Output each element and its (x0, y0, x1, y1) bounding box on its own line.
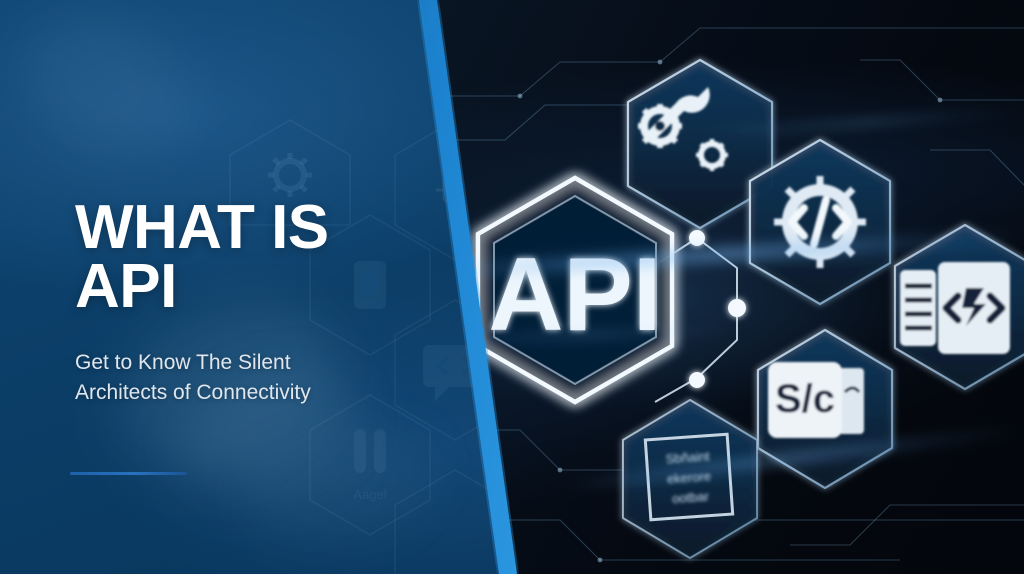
hex-server-client: S/c (758, 330, 892, 488)
hex-code-editor (895, 225, 1024, 389)
headline-block: WHAT IS API Get to Know The Silent Archi… (75, 199, 405, 407)
server-client-icon: S/c (768, 362, 864, 438)
code-brackets-icon (900, 262, 1010, 354)
page-subtitle: Get to Know The Silent Architects of Con… (75, 348, 405, 408)
blurred-text-icon: Sbñaint ekerore ootbar (665, 449, 713, 507)
hex-api-center: API (478, 178, 672, 402)
api-center-label: API (488, 237, 661, 353)
api-hero-banner: S/c Sbñaint ekerore ootbar (0, 0, 1024, 574)
svg-text:ootbar: ootbar (672, 489, 710, 507)
subtitle-line-2: Architects of Connectivity (75, 378, 405, 408)
svg-text:S/c: S/c (775, 377, 835, 421)
headline-line-2: API (75, 258, 405, 317)
svg-text:ekerore: ekerore (667, 468, 712, 486)
gear-code-slash-icon (774, 176, 866, 268)
svg-text:Sbñaint: Sbñaint (665, 449, 710, 467)
page-title: WHAT IS API (75, 199, 405, 317)
hex-blurred-note: Sbñaint ekerore ootbar (623, 400, 757, 558)
accent-rule (70, 472, 187, 475)
subtitle-line-1: Get to Know The Silent (75, 348, 405, 378)
